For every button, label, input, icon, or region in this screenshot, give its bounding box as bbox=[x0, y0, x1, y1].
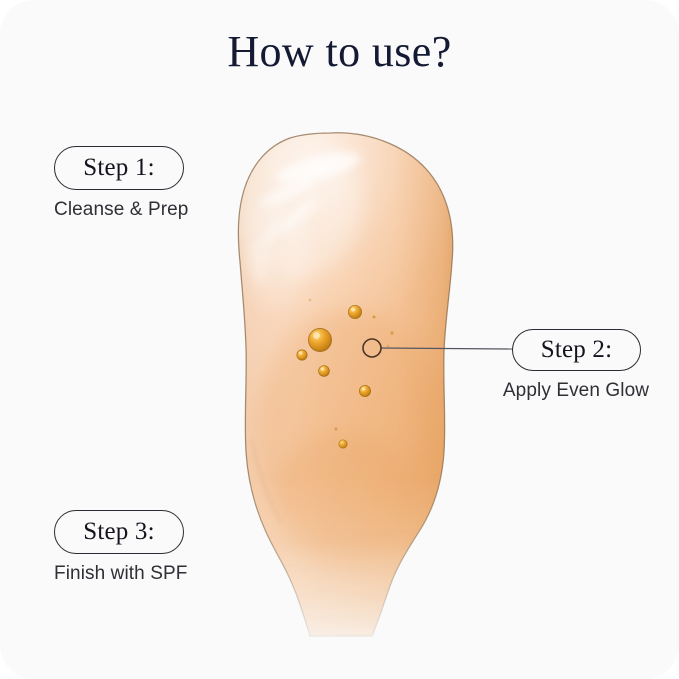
step-1-caption: Cleanse & Prep bbox=[54, 199, 184, 221]
step-3-badge-label: Step 3: bbox=[83, 518, 155, 546]
page-title: How to use? bbox=[0, 26, 679, 77]
step-3-callout[interactable]: Step 3: Finish with SPF bbox=[54, 510, 184, 585]
step-2-badge[interactable]: Step 2: bbox=[512, 329, 641, 371]
step-2-callout[interactable]: Step 2: Apply Even Glow bbox=[512, 329, 641, 402]
step-2-badge-label: Step 2: bbox=[541, 336, 613, 364]
step-3-badge[interactable]: Step 3: bbox=[54, 510, 184, 554]
infographic-canvas: Step 1: Cleanse & Prep Step 2: Apply Eve… bbox=[0, 0, 679, 679]
step-2-caption: Apply Even Glow bbox=[496, 380, 656, 402]
step-1-badge[interactable]: Step 1: bbox=[54, 146, 184, 190]
step-1-callout[interactable]: Step 1: Cleanse & Prep bbox=[54, 146, 184, 221]
step-3-caption: Finish with SPF bbox=[54, 563, 184, 585]
step-1-badge-label: Step 1: bbox=[83, 154, 155, 182]
